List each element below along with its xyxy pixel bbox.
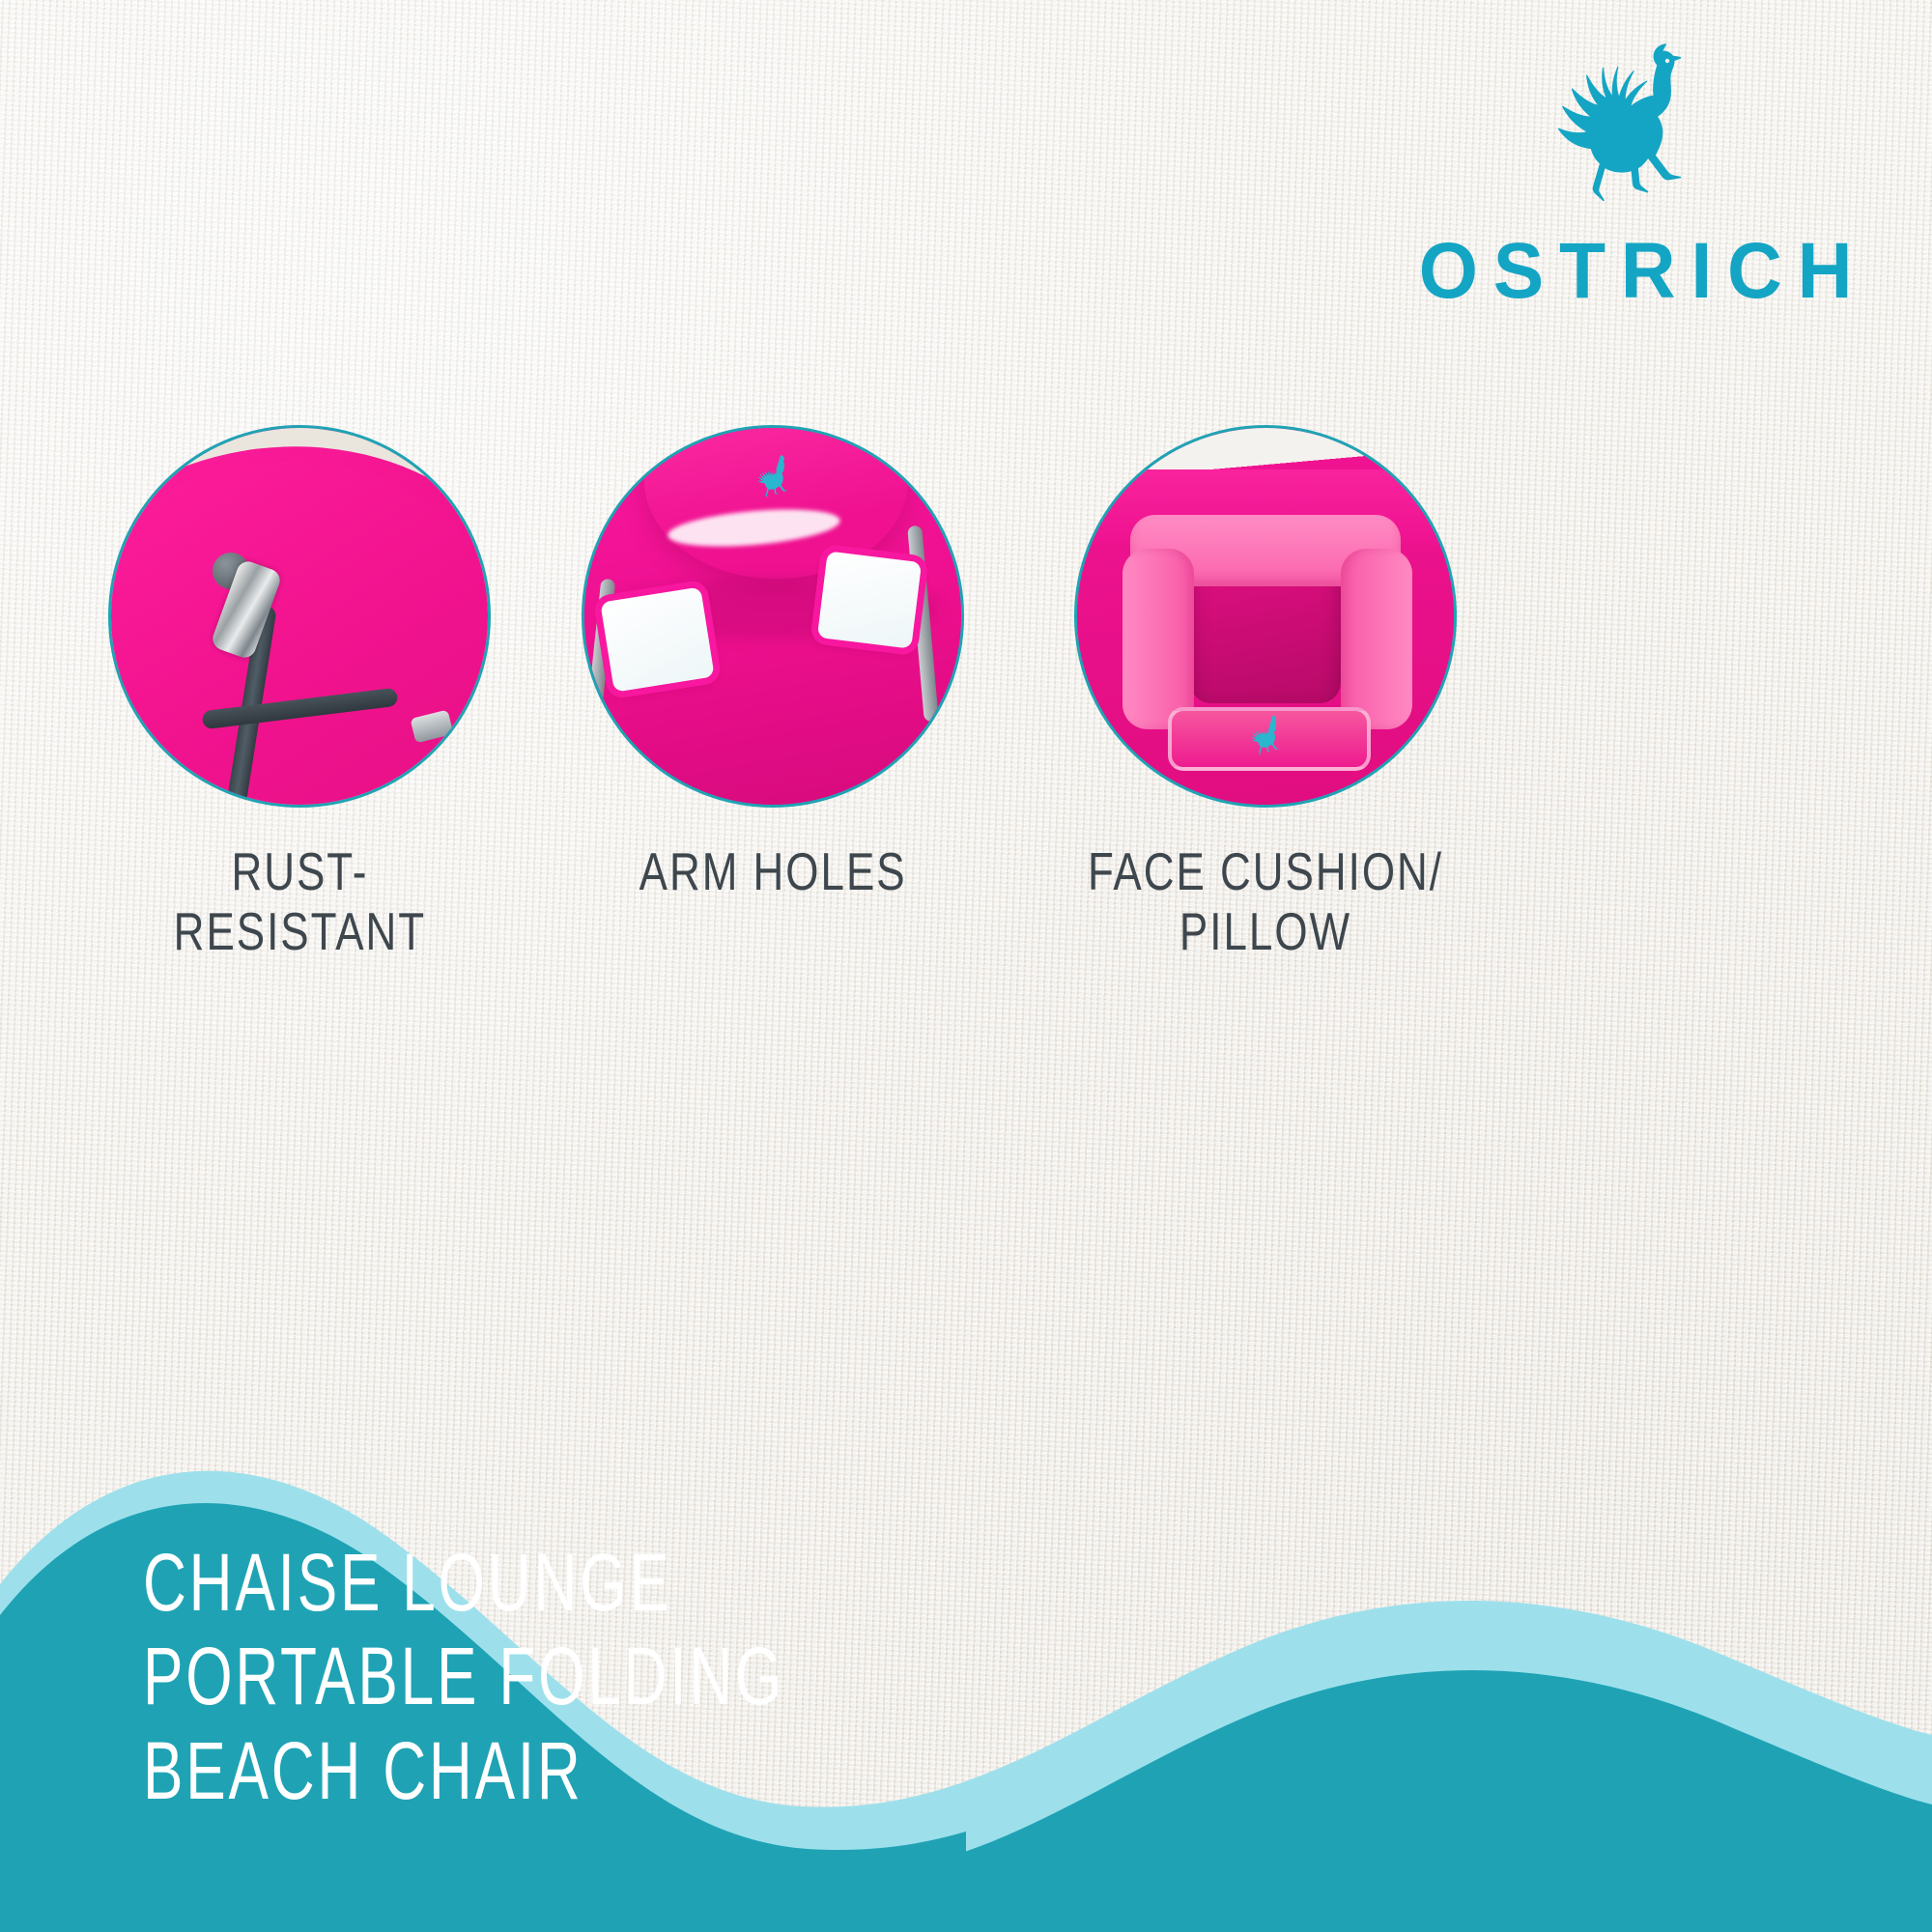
feature-image-face-cushion-pillow xyxy=(1074,425,1457,808)
feature-caption-rust-resistant: RUST- RESISTANT xyxy=(173,842,425,961)
feature-image-rust-resistant xyxy=(108,425,491,808)
cushion-pad-left xyxy=(1122,549,1194,729)
ostrich-embroidery-icon xyxy=(745,450,801,506)
product-title-line-3: BEACH CHAIR xyxy=(143,1724,784,1818)
brand-logo: OSTRICH xyxy=(1408,35,1862,311)
arm-hole-right xyxy=(817,551,922,648)
feature-caption-face-cushion-pillow: FACE CUSHION/ PILLOW xyxy=(1088,842,1443,961)
feature-caption-arm-holes: ARM HOLES xyxy=(639,842,906,902)
feature-arm-holes: ARM HOLES xyxy=(502,425,1043,902)
ostrich-icon xyxy=(1539,35,1732,228)
product-title: CHAISE LOUNGE PORTABLE FOLDING BEACH CHA… xyxy=(143,1536,1010,1818)
product-title-line-2: PORTABLE FOLDING xyxy=(143,1630,784,1723)
feature-list: RUST- RESISTANT ARM HOLES xyxy=(0,425,1932,1159)
feature-rust-resistant: RUST- RESISTANT xyxy=(29,425,570,961)
brand-wordmark: OSTRICH xyxy=(1404,232,1867,311)
cushion-pad-right xyxy=(1341,549,1412,729)
product-title-line-1: CHAISE LOUNGE xyxy=(143,1536,784,1630)
chair-fabric-hem xyxy=(108,425,491,808)
ostrich-embroidery-icon xyxy=(1239,711,1292,763)
feature-face-cushion-pillow: FACE CUSHION/ PILLOW xyxy=(995,425,1536,961)
arm-hole-left xyxy=(601,586,716,692)
feature-image-arm-holes xyxy=(582,425,964,808)
